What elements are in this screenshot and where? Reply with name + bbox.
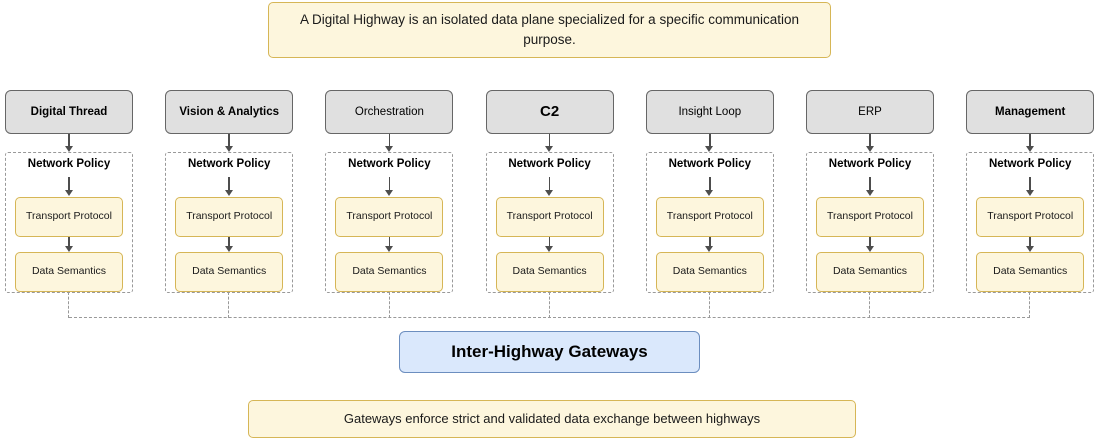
arrow-header-to-policy-0	[68, 134, 70, 146]
arrowhead-policy-to-transport-4	[705, 190, 713, 196]
arrow-header-to-policy-1	[228, 134, 230, 146]
arrowhead-policy-to-transport-1	[225, 190, 233, 196]
data-semantics-box-5[interactable]: Data Semantics	[816, 252, 924, 292]
arrow-header-to-policy-3	[549, 134, 551, 146]
bus-drop-stub-5	[869, 292, 870, 318]
data-semantics-box-4[interactable]: Data Semantics	[656, 252, 764, 292]
bus-drop-stub-4	[709, 292, 710, 318]
inter-highway-gateways-box[interactable]: Inter-Highway Gateways	[399, 331, 700, 373]
network-policy-title-2: Network Policy	[325, 158, 453, 170]
arrow-policy-to-transport-0	[68, 177, 70, 190]
network-policy-title-6: Network Policy	[966, 158, 1094, 170]
transport-protocol-box-6[interactable]: Transport Protocol	[976, 197, 1084, 237]
transport-protocol-box-3[interactable]: Transport Protocol	[496, 197, 604, 237]
highway-header-5[interactable]: ERP	[806, 90, 934, 134]
data-semantics-box-1[interactable]: Data Semantics	[175, 252, 283, 292]
highway-header-4[interactable]: Insight Loop	[646, 90, 774, 134]
bottom-caption: Gateways enforce strict and validated da…	[248, 400, 856, 438]
arrow-policy-to-transport-1	[228, 177, 230, 190]
arrow-transport-to-semantics-5	[869, 237, 871, 246]
network-policy-title-4: Network Policy	[646, 158, 774, 170]
arrow-policy-to-transport-5	[869, 177, 871, 190]
arrow-transport-to-semantics-6	[1029, 237, 1031, 246]
arrow-transport-to-semantics-2	[389, 237, 391, 246]
network-policy-title-3: Network Policy	[486, 158, 614, 170]
highway-header-1[interactable]: Vision & Analytics	[165, 90, 293, 134]
transport-protocol-box-1[interactable]: Transport Protocol	[175, 197, 283, 237]
network-policy-title-1: Network Policy	[165, 158, 293, 170]
transport-protocol-box-4[interactable]: Transport Protocol	[656, 197, 764, 237]
arrow-policy-to-transport-2	[389, 177, 391, 190]
bus-drop-stub-3	[549, 292, 550, 318]
highway-header-3[interactable]: C2	[486, 90, 614, 134]
network-policy-title-5: Network Policy	[806, 158, 934, 170]
arrow-policy-to-transport-4	[709, 177, 711, 190]
data-semantics-box-2[interactable]: Data Semantics	[335, 252, 443, 292]
data-semantics-box-3[interactable]: Data Semantics	[496, 252, 604, 292]
arrow-header-to-policy-6	[1029, 134, 1031, 146]
bus-drop-stub-6	[1029, 292, 1030, 318]
arrow-header-to-policy-2	[389, 134, 391, 146]
bus-drop-stub-0	[68, 292, 69, 318]
arrow-header-to-policy-5	[869, 134, 871, 146]
transport-protocol-box-0[interactable]: Transport Protocol	[15, 197, 123, 237]
arrowhead-policy-to-transport-5	[866, 190, 874, 196]
arrow-transport-to-semantics-0	[68, 237, 70, 246]
arrow-policy-to-transport-3	[549, 177, 551, 190]
arrowhead-policy-to-transport-6	[1026, 190, 1034, 196]
highway-header-0[interactable]: Digital Thread	[5, 90, 133, 134]
transport-protocol-box-5[interactable]: Transport Protocol	[816, 197, 924, 237]
transport-protocol-box-2[interactable]: Transport Protocol	[335, 197, 443, 237]
inter-highway-bus-line	[69, 317, 1030, 318]
arrowhead-policy-to-transport-2	[385, 190, 393, 196]
bus-drop-stub-1	[228, 292, 229, 318]
arrow-policy-to-transport-6	[1029, 177, 1031, 190]
data-semantics-box-6[interactable]: Data Semantics	[976, 252, 1084, 292]
highway-header-2[interactable]: Orchestration	[325, 90, 453, 134]
arrow-transport-to-semantics-4	[709, 237, 711, 246]
arrowhead-policy-to-transport-0	[65, 190, 73, 196]
highway-header-6[interactable]: Management	[966, 90, 1094, 134]
digital-highway-diagram: A Digital Highway is an isolated data pl…	[0, 0, 1101, 444]
network-policy-title-0: Network Policy	[5, 158, 133, 170]
arrow-transport-to-semantics-3	[549, 237, 551, 246]
arrowhead-policy-to-transport-3	[545, 190, 553, 196]
bus-drop-stub-2	[389, 292, 390, 318]
data-semantics-box-0[interactable]: Data Semantics	[15, 252, 123, 292]
arrow-header-to-policy-4	[709, 134, 711, 146]
top-caption: A Digital Highway is an isolated data pl…	[268, 2, 831, 58]
arrow-transport-to-semantics-1	[228, 237, 230, 246]
